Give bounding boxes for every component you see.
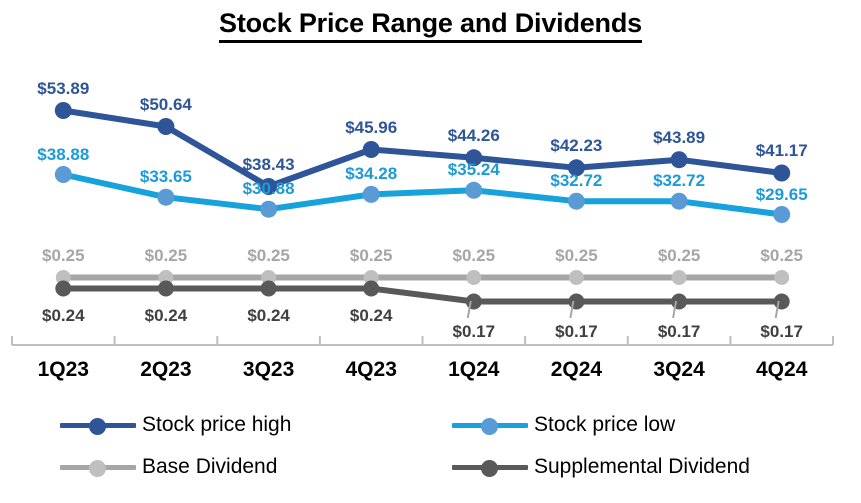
data-label: $34.28: [345, 164, 397, 184]
category-label-2q23: 2Q23: [140, 358, 191, 382]
data-point-marker: [466, 294, 482, 310]
data-point-marker: [568, 193, 585, 210]
data-label: $32.72: [653, 171, 705, 191]
data-point-marker: [260, 201, 277, 218]
data-point-marker: [363, 141, 380, 158]
data-point-marker: [157, 189, 174, 206]
data-point-marker: [569, 270, 584, 285]
data-label: $0.17: [658, 322, 701, 342]
legend-swatch-icon: [452, 417, 528, 433]
data-label: $42.23: [550, 136, 602, 156]
legend-swatch-icon: [60, 417, 136, 433]
data-label: $32.72: [550, 171, 602, 191]
data-point-marker: [568, 294, 584, 310]
data-label: $50.64: [140, 95, 192, 115]
category-label-2q24: 2Q24: [551, 358, 602, 382]
data-label: $45.96: [345, 118, 397, 138]
legend-item-supplemental-dividend[interactable]: Supplemental Dividend: [452, 456, 750, 477]
data-label: $0.24: [247, 306, 290, 326]
data-label: $0.25: [760, 246, 803, 266]
data-label: $0.25: [453, 246, 496, 266]
category-label-4q24: 4Q24: [756, 358, 807, 382]
category-label-4q23: 4Q23: [346, 358, 397, 382]
legend-label: Stock price low: [534, 414, 675, 435]
legend-item-stock-price-high[interactable]: Stock price high: [60, 414, 291, 435]
legend-swatch-icon: [452, 459, 528, 475]
data-point-marker: [55, 102, 72, 119]
data-label: $0.25: [42, 246, 85, 266]
data-point-marker: [773, 165, 790, 182]
data-label: $44.26: [448, 126, 500, 146]
data-label: $0.17: [453, 322, 496, 342]
data-point-marker: [671, 294, 687, 310]
data-point-marker: [671, 193, 688, 210]
category-label-1q23: 1Q23: [38, 358, 89, 382]
data-label: $0.24: [145, 306, 188, 326]
data-point-marker: [363, 186, 380, 203]
data-label: $38.88: [37, 145, 89, 165]
data-point-marker: [261, 281, 277, 297]
legend-swatch-icon: [60, 459, 136, 475]
data-point-marker: [55, 166, 72, 183]
data-label: $30.88: [243, 179, 295, 199]
data-label: $0.24: [350, 306, 393, 326]
legend-item-base-dividend[interactable]: Base Dividend: [60, 456, 277, 477]
data-label: $0.17: [555, 322, 598, 342]
data-point-marker: [774, 294, 790, 310]
data-label: $43.89: [653, 128, 705, 148]
data-point-marker: [774, 270, 789, 285]
data-point-marker: [157, 118, 174, 135]
data-label: $53.89: [37, 79, 89, 99]
data-point-marker: [671, 151, 688, 168]
category-label-1q24: 1Q24: [448, 358, 499, 382]
stock-price-chart: Stock Price Range and Dividends $53.89$5…: [0, 0, 861, 503]
data-label: $41.17: [756, 141, 808, 161]
x-axis-line: [12, 336, 833, 345]
data-point-marker: [158, 281, 174, 297]
chart-legend: Stock price highStock price lowBase Divi…: [0, 408, 861, 503]
data-point-marker: [466, 270, 481, 285]
data-label: $29.65: [756, 185, 808, 205]
data-label: $33.65: [140, 167, 192, 187]
legend-label: Base Dividend: [142, 456, 277, 477]
data-label: $0.25: [350, 246, 393, 266]
category-label-3q24: 3Q24: [653, 358, 704, 382]
data-point-marker: [465, 182, 482, 199]
data-label: $0.25: [145, 246, 188, 266]
data-label: $0.25: [555, 246, 598, 266]
data-label: $0.25: [658, 246, 701, 266]
data-label: $0.25: [247, 246, 290, 266]
legend-label: Supplemental Dividend: [534, 456, 750, 477]
legend-item-stock-price-low[interactable]: Stock price low: [452, 414, 675, 435]
data-label: $0.17: [760, 322, 803, 342]
data-point-marker: [672, 270, 687, 285]
category-label-3q23: 3Q23: [243, 358, 294, 382]
data-point-marker: [55, 281, 71, 297]
legend-label: Stock price high: [142, 414, 291, 435]
data-label: $35.24: [448, 160, 500, 180]
data-label: $0.24: [42, 306, 85, 326]
data-label: $38.43: [243, 155, 295, 175]
data-point-marker: [773, 206, 790, 223]
data-point-marker: [363, 281, 379, 297]
